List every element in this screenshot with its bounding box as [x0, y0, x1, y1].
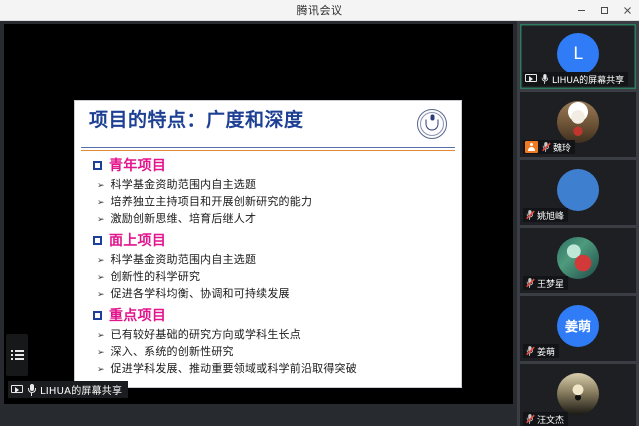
- arrow-bullet-icon: ➢: [97, 177, 105, 193]
- slide-bullet: ➢ 深入、系统的创新性研究: [93, 344, 451, 360]
- participant-tile[interactable]: 姚旭峰: [520, 160, 636, 225]
- arrow-bullet-icon: ➢: [97, 327, 105, 343]
- avatar: L: [557, 33, 599, 75]
- avatar-initial: L: [573, 44, 582, 64]
- arrow-bullet-icon: ➢: [97, 286, 105, 302]
- microphone-icon: [541, 74, 548, 84]
- shared-screen-stage[interactable]: 项目的特点：广度和深度 青年项目 ➢: [0, 21, 517, 426]
- slide-section-heading: 面上项目: [93, 230, 451, 250]
- slide-section-title: 青年项目: [109, 155, 166, 175]
- arrow-bullet-icon: ➢: [97, 269, 105, 285]
- microphone-muted-icon: [526, 210, 533, 220]
- window-title: 腾讯会议: [297, 2, 343, 18]
- minimize-button[interactable]: [570, 0, 593, 21]
- slide-divider-accent: [81, 150, 455, 151]
- host-badge-icon: [525, 141, 538, 153]
- microphone-muted-icon: [526, 278, 533, 288]
- slide-header: 项目的特点：广度和深度: [75, 101, 461, 149]
- avatar: [557, 373, 599, 415]
- slide-section-title: 面上项目: [109, 230, 166, 250]
- university-emblem-icon: [417, 109, 447, 139]
- participant-name: 姜萌: [537, 345, 555, 358]
- slide-section: 重点项目 ➢ 已有较好基础的研究方向或学科生长点 ➢ 深入、系统的创新性研究 ➢: [93, 305, 451, 377]
- participant-tile[interactable]: 魏玲: [520, 92, 636, 157]
- microphone-muted-icon: [526, 414, 533, 424]
- arrow-bullet-icon: ➢: [97, 361, 105, 377]
- slide-section-heading: 青年项目: [93, 155, 451, 175]
- square-bullet-icon: [93, 311, 102, 320]
- slide-bullet: ➢ 创新性的科学研究: [93, 269, 451, 285]
- participant-namebar: 王梦星: [523, 276, 568, 290]
- sidebar-toggle-handle[interactable]: [6, 334, 28, 376]
- microphone-muted-icon: [542, 142, 549, 152]
- avatar-initial: 姜萌: [565, 316, 591, 335]
- slide-bullet: ➢ 科学基金资助范围内自主选题: [93, 252, 451, 268]
- screen-share-banner: LIHUA的屏幕共享: [8, 381, 128, 398]
- participant-namebar: 姚旭峰: [523, 208, 568, 222]
- tencent-meeting-window: 腾讯会议 项目的特点：广度和深度: [0, 0, 639, 426]
- slide-section-heading: 重点项目: [93, 305, 451, 325]
- shared-screen-content: 项目的特点：广度和深度 青年项目 ➢: [4, 24, 513, 404]
- avatar: [557, 101, 599, 143]
- maximize-button[interactable]: [593, 0, 616, 21]
- slide-section: 面上项目 ➢ 科学基金资助范围内自主选题 ➢ 创新性的科学研究 ➢ 促进各学: [93, 230, 451, 302]
- participant-name: 魏玲: [553, 141, 571, 154]
- participant-name: 王梦星: [537, 277, 564, 290]
- slide-title: 项目的特点：广度和深度: [89, 107, 453, 133]
- participant-filmstrip[interactable]: L LIHUA的屏幕共享 魏玲: [517, 21, 639, 426]
- slide-bullet: ➢ 促进学科发展、推动重要领域或科学前沿取得突破: [93, 361, 451, 377]
- slide-bullet: ➢ 促进各学科均衡、协调和可持续发展: [93, 286, 451, 302]
- square-bullet-icon: [93, 161, 102, 170]
- close-button[interactable]: [616, 0, 639, 21]
- square-bullet-icon: [93, 236, 102, 245]
- arrow-bullet-icon: ➢: [97, 211, 105, 227]
- slide-divider: [81, 147, 455, 148]
- avatar: [557, 169, 599, 211]
- participant-namebar: LIHUA的屏幕共享: [523, 72, 628, 86]
- participant-tile[interactable]: 姜萌 姜萌: [520, 296, 636, 361]
- microphone-muted-icon: [526, 346, 533, 356]
- slide-bullet: ➢ 科学基金资助范围内自主选题: [93, 177, 451, 193]
- slide-body: 青年项目 ➢ 科学基金资助范围内自主选题 ➢ 培养独立主持项目和开展创新研究的能…: [75, 149, 461, 377]
- avatar: 姜萌: [557, 305, 599, 347]
- title-bar: 腾讯会议: [0, 0, 639, 21]
- screen-share-icon: [11, 385, 23, 395]
- arrow-bullet-icon: ➢: [97, 344, 105, 360]
- participant-namebar: 汪文杰: [523, 412, 568, 426]
- participant-name: 汪文杰: [537, 413, 564, 426]
- participant-tile[interactable]: 王梦星: [520, 228, 636, 293]
- participant-namebar: 魏玲: [523, 140, 575, 154]
- avatar: [557, 237, 599, 279]
- slide-bullet: ➢ 培养独立主持项目和开展创新研究的能力: [93, 194, 451, 210]
- slide-section-title: 重点项目: [109, 305, 166, 325]
- participant-tile[interactable]: L LIHUA的屏幕共享: [520, 24, 636, 89]
- microphone-icon: [27, 384, 36, 396]
- arrow-bullet-icon: ➢: [97, 252, 105, 268]
- slide-bullet: ➢ 激励创新思维、培育后继人才: [93, 211, 451, 227]
- screen-share-label: LIHUA的屏幕共享: [40, 382, 122, 397]
- window-controls: [570, 0, 639, 21]
- participant-name: 姚旭峰: [537, 209, 564, 222]
- presentation-slide: 项目的特点：广度和深度 青年项目 ➢: [74, 100, 462, 388]
- participant-name: LIHUA的屏幕共享: [552, 73, 624, 86]
- participant-namebar: 姜萌: [523, 344, 559, 358]
- participant-tile[interactable]: 汪文杰: [520, 364, 636, 426]
- list-icon: [11, 350, 24, 361]
- arrow-bullet-icon: ➢: [97, 194, 105, 210]
- slide-bullet: ➢ 已有较好基础的研究方向或学科生长点: [93, 327, 451, 343]
- slide-section: 青年项目 ➢ 科学基金资助范围内自主选题 ➢ 培养独立主持项目和开展创新研究的能…: [93, 155, 451, 227]
- screen-share-icon: [525, 74, 537, 84]
